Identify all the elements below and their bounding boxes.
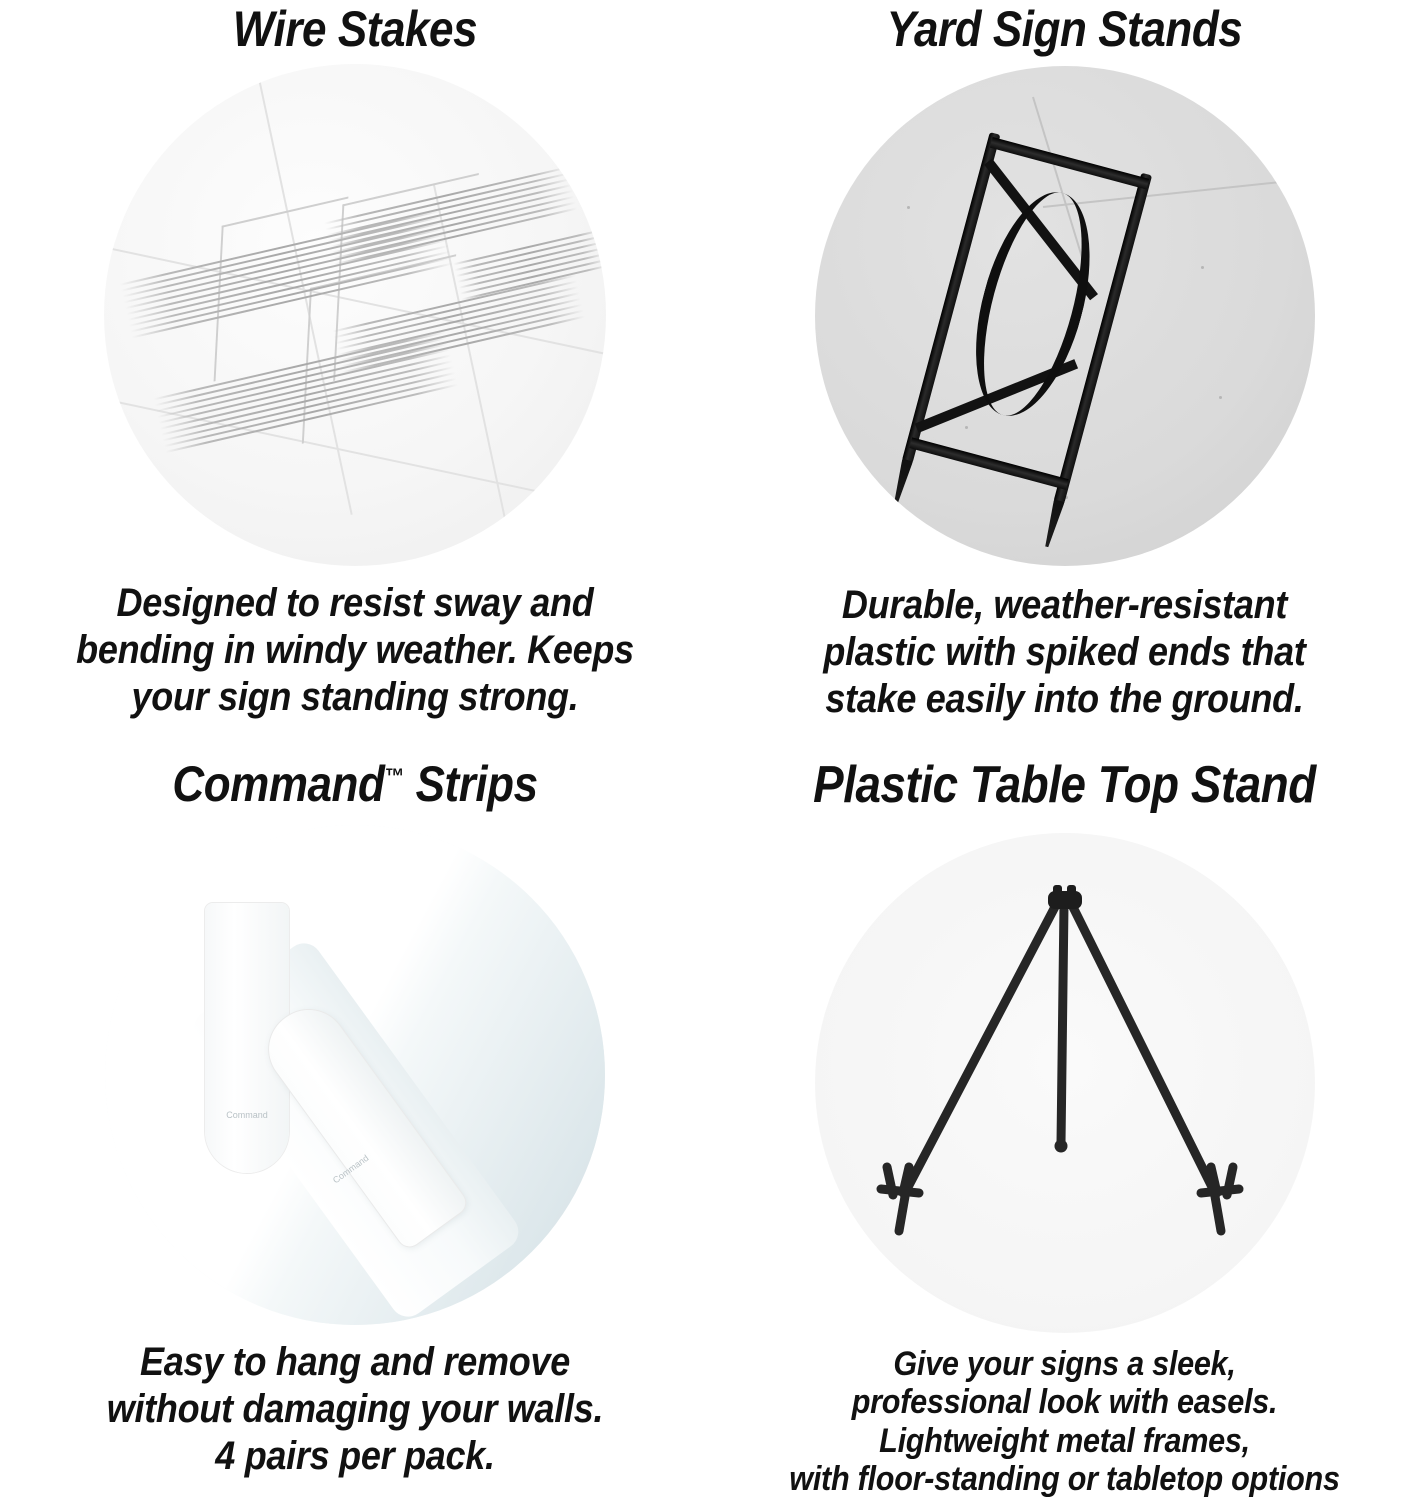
caption-line: bending in windy weather. Keeps <box>36 627 675 674</box>
stand-crossbar-bottom <box>909 437 1068 490</box>
concrete-speck <box>907 206 910 209</box>
panel-caption-command-strips: Easy to hang and remove without damaging… <box>36 1339 675 1481</box>
caption-line: 4 pairs per pack. <box>36 1433 675 1480</box>
product-photo-wire-stakes <box>104 64 606 566</box>
caption-line: Give your signs a sleek, <box>745 1345 1383 1383</box>
3m-logo-icon: Command <box>223 1111 271 1120</box>
yard-sign-stand-frame <box>901 132 1151 504</box>
product-photo-command-strips: Command Command <box>105 825 605 1325</box>
concrete-speck <box>1201 266 1204 269</box>
panel-title-command-strips: Command™ Strips <box>43 755 668 809</box>
caption-line: Easy to hang and remove <box>36 1339 675 1386</box>
logo-sub-label: Command <box>223 1111 271 1120</box>
caption-line: professional look with easels. <box>745 1383 1383 1421</box>
trademark-symbol: ™ <box>384 763 403 788</box>
panel-caption-table-top-stand: Give your signs a sleek, professional lo… <box>745 1345 1383 1499</box>
caption-line: with floor-standing or tabletop options <box>745 1460 1383 1498</box>
product-photo-yard-sign-stand <box>815 66 1315 566</box>
stand-spike-right <box>1041 499 1064 548</box>
panel-wire-stakes: Wire Stakes <box>0 0 710 755</box>
caption-line: your sign standing strong. <box>36 674 675 721</box>
caption-line: plastic with spiked ends that <box>745 629 1383 676</box>
product-photo-table-top-stand <box>815 833 1315 1333</box>
caption-line: without damaging your walls. <box>36 1386 675 1433</box>
easel-illustration <box>815 833 1315 1333</box>
caption-line: Durable, weather-resistant <box>745 582 1383 629</box>
stand-spike-left <box>889 459 912 508</box>
concrete-speck <box>1219 396 1222 399</box>
panel-title-command-suffix: Strips <box>404 756 538 812</box>
panel-title-command-prefix: Command <box>172 756 384 812</box>
caption-line: Lightweight metal frames, <box>745 1422 1383 1460</box>
panel-yard-sign-stands: Yard Sign Stands Durable, weathe <box>710 0 1419 755</box>
panel-table-top-stand: Plastic Table Top Stand <box>710 755 1419 1500</box>
stand-crossbar-top <box>989 137 1148 190</box>
panel-caption-wire-stakes: Designed to resist sway and bending in w… <box>36 580 675 722</box>
infographic-sheet: Wire Stakes <box>0 0 1419 1500</box>
caption-line: stake easily into the ground. <box>745 676 1383 723</box>
panel-title-yard-sign-stands: Yard Sign Stands <box>753 0 1377 54</box>
panel-command-strips: Command™ Strips Command Command Easy to … <box>0 755 710 1500</box>
panel-caption-yard-sign-stands: Durable, weather-resistant plastic with … <box>745 582 1383 724</box>
panel-title-wire-stakes: Wire Stakes <box>43 0 668 54</box>
panel-title-table-top-stand: Plastic Table Top Stand <box>753 755 1377 811</box>
caption-line: Designed to resist sway and <box>36 580 675 627</box>
